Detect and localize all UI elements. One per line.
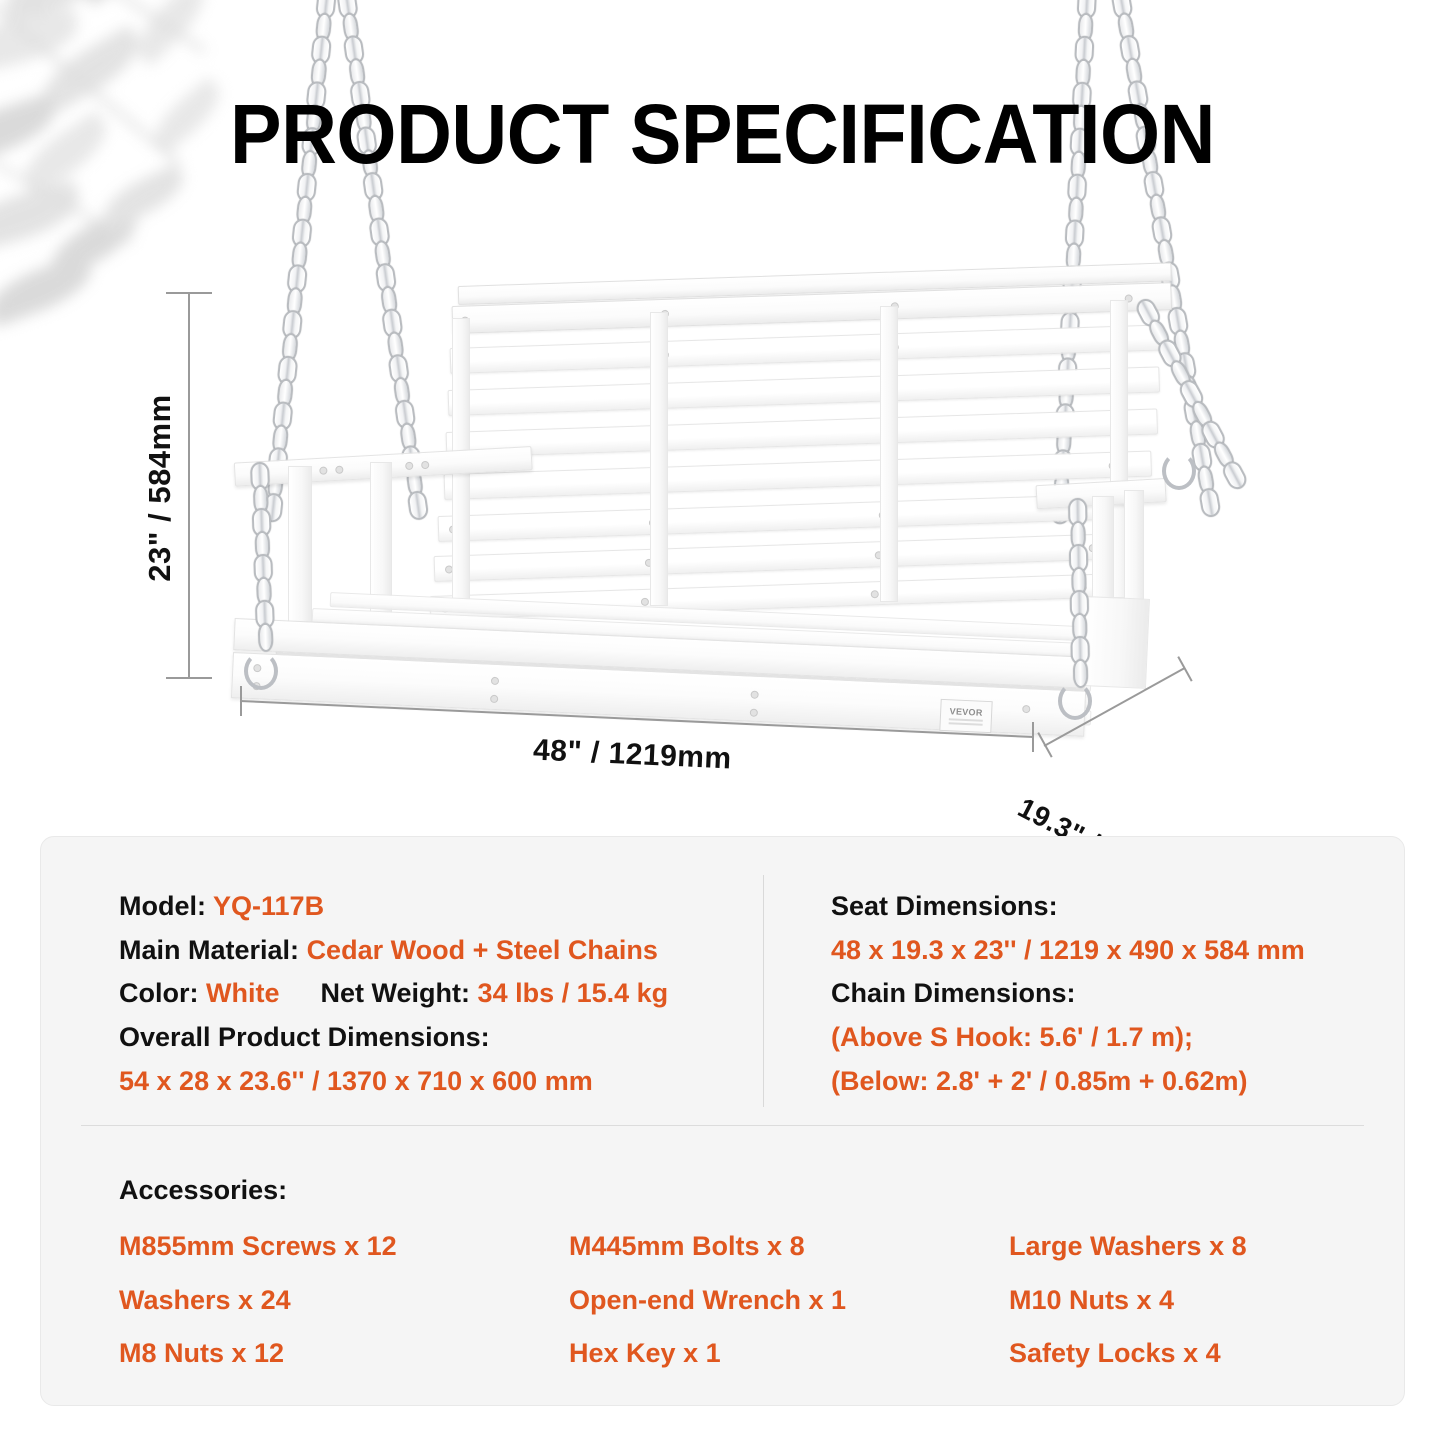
width-dimension-label: 48" / 1219mm bbox=[532, 734, 732, 777]
spec-label-seat-dimensions: Seat Dimensions: bbox=[831, 891, 1058, 921]
s-hook-right bbox=[1058, 682, 1092, 720]
screw bbox=[641, 598, 649, 606]
spec-right-column: Seat Dimensions: 48 x 19.3 x 23'' / 1219… bbox=[831, 885, 1371, 1104]
spec-label-material: Main Material: bbox=[119, 935, 299, 965]
height-dimension-cap-top bbox=[166, 292, 212, 294]
screw bbox=[405, 462, 413, 470]
spec-label-model: Model: bbox=[119, 891, 206, 921]
height-dimension-line bbox=[188, 292, 190, 678]
depth-dimension-cap-near bbox=[1037, 732, 1052, 757]
backrest-slat-2 bbox=[448, 366, 1160, 416]
specification-panel: Model: YQ-117B Main Material: Cedar Wood… bbox=[40, 836, 1405, 1406]
backrest-slat-6 bbox=[434, 533, 1132, 582]
screw bbox=[319, 466, 327, 474]
height-dimension-cap-bottom bbox=[166, 677, 212, 679]
accessory-item: Washers x 24 bbox=[119, 1279, 569, 1323]
spec-row-overall-value: 54 x 28 x 23.6'' / 1370 x 710 x 600 mm bbox=[119, 1060, 759, 1104]
backrest-slat-5 bbox=[438, 493, 1140, 542]
vevor-brand-plate: VEVOR bbox=[939, 699, 992, 733]
accessory-item: Hex Key x 1 bbox=[569, 1332, 1009, 1376]
backrest-stile-center bbox=[650, 312, 668, 606]
vevor-logo-text: VEVOR bbox=[949, 706, 982, 717]
accessory-item: Open-end Wrench x 1 bbox=[569, 1279, 1009, 1323]
width-dimension-cap-right bbox=[1032, 722, 1034, 752]
accessory-item: M855mm Screws x 12 bbox=[119, 1225, 569, 1269]
chain-upper-right-a bbox=[1050, 0, 1097, 519]
width-dimension-cap-left bbox=[240, 686, 242, 716]
s-hook-right-upper bbox=[1162, 452, 1196, 490]
spec-row-material: Main Material: Cedar Wood + Steel Chains bbox=[119, 929, 759, 973]
spec-label-color: Color: bbox=[119, 978, 198, 1008]
spec-label-overall-dimensions: Overall Product Dimensions: bbox=[119, 1022, 490, 1052]
spec-row-seat-title: Seat Dimensions: bbox=[831, 885, 1371, 929]
height-dimension-label: 23" / 584mm bbox=[142, 373, 178, 603]
spec-row-model: Model: YQ-117B bbox=[119, 885, 759, 929]
chain-upper-left-b bbox=[336, 0, 428, 515]
spec-value-color: White bbox=[206, 978, 280, 1008]
page-title: PRODUCT SPECIFICATION bbox=[58, 86, 1387, 183]
spec-value-chain-above: (Above S Hook: 5.6' / 1.7 m); bbox=[831, 1022, 1193, 1052]
spec-value-material: Cedar Wood + Steel Chains bbox=[307, 935, 658, 965]
chain-upper-left-a bbox=[263, 0, 337, 517]
spec-row-chain-title: Chain Dimensions: bbox=[831, 972, 1371, 1016]
spec-value-chain-below: (Below: 2.8' + 2' / 0.85m + 0.62m) bbox=[831, 1066, 1248, 1096]
screw bbox=[871, 590, 879, 598]
accessory-item: M10 Nuts x 4 bbox=[1009, 1279, 1349, 1323]
screw bbox=[490, 695, 498, 703]
accessory-item: M445mm Bolts x 8 bbox=[569, 1225, 1009, 1269]
spec-top-section: Model: YQ-117B Main Material: Cedar Wood… bbox=[41, 837, 1404, 1125]
backrest-stile-right-mid bbox=[880, 306, 898, 602]
chain-lower-right-inner bbox=[1068, 498, 1090, 682]
spec-value-overall-dimensions: 54 x 28 x 23.6'' / 1370 x 710 x 600 mm bbox=[119, 1066, 593, 1096]
accessories-grid: M855mm Screws x 12 M445mm Bolts x 8 Larg… bbox=[119, 1225, 1349, 1376]
spec-row-seat-value: 48 x 19.3 x 23'' / 1219 x 490 x 584 mm bbox=[831, 929, 1371, 973]
column-divider bbox=[763, 875, 764, 1107]
spec-value-model: YQ-117B bbox=[213, 891, 324, 921]
s-hook-left bbox=[244, 652, 278, 690]
accessory-item: M8 Nuts x 12 bbox=[119, 1332, 569, 1376]
side-panel-right bbox=[1082, 596, 1150, 689]
accessory-item: Large Washers x 8 bbox=[1009, 1225, 1349, 1269]
screw bbox=[491, 677, 499, 685]
spec-value-net-weight: 34 lbs / 15.4 kg bbox=[478, 978, 669, 1008]
accessory-item: Safety Locks x 4 bbox=[1009, 1332, 1349, 1376]
screw bbox=[750, 691, 758, 699]
backrest-slat-1 bbox=[450, 324, 1162, 374]
spec-row-color-weight: Color: White Net Weight: 34 lbs / 15.4 k… bbox=[119, 972, 759, 1016]
spec-label-chain-dimensions: Chain Dimensions: bbox=[831, 978, 1076, 1008]
spec-row-chain-above: (Above S Hook: 5.6' / 1.7 m); bbox=[831, 1016, 1371, 1060]
spec-value-seat-dimensions: 48 x 19.3 x 23'' / 1219 x 490 x 584 mm bbox=[831, 935, 1305, 965]
screw bbox=[750, 709, 758, 717]
spec-left-column: Model: YQ-117B Main Material: Cedar Wood… bbox=[119, 885, 759, 1104]
screw bbox=[1022, 705, 1030, 713]
section-divider bbox=[81, 1125, 1364, 1126]
plate-line bbox=[949, 722, 983, 726]
spec-row-chain-below: (Below: 2.8' + 2' / 0.85m + 0.62m) bbox=[831, 1060, 1371, 1104]
spec-label-net-weight: Net Weight: bbox=[321, 978, 471, 1008]
spec-row-overall-title: Overall Product Dimensions: bbox=[119, 1016, 759, 1060]
plate-line bbox=[949, 718, 983, 722]
screw bbox=[421, 461, 429, 469]
backrest-slat-3 bbox=[446, 408, 1158, 458]
screw bbox=[335, 466, 343, 474]
accessories-title: Accessories: bbox=[119, 1175, 287, 1206]
